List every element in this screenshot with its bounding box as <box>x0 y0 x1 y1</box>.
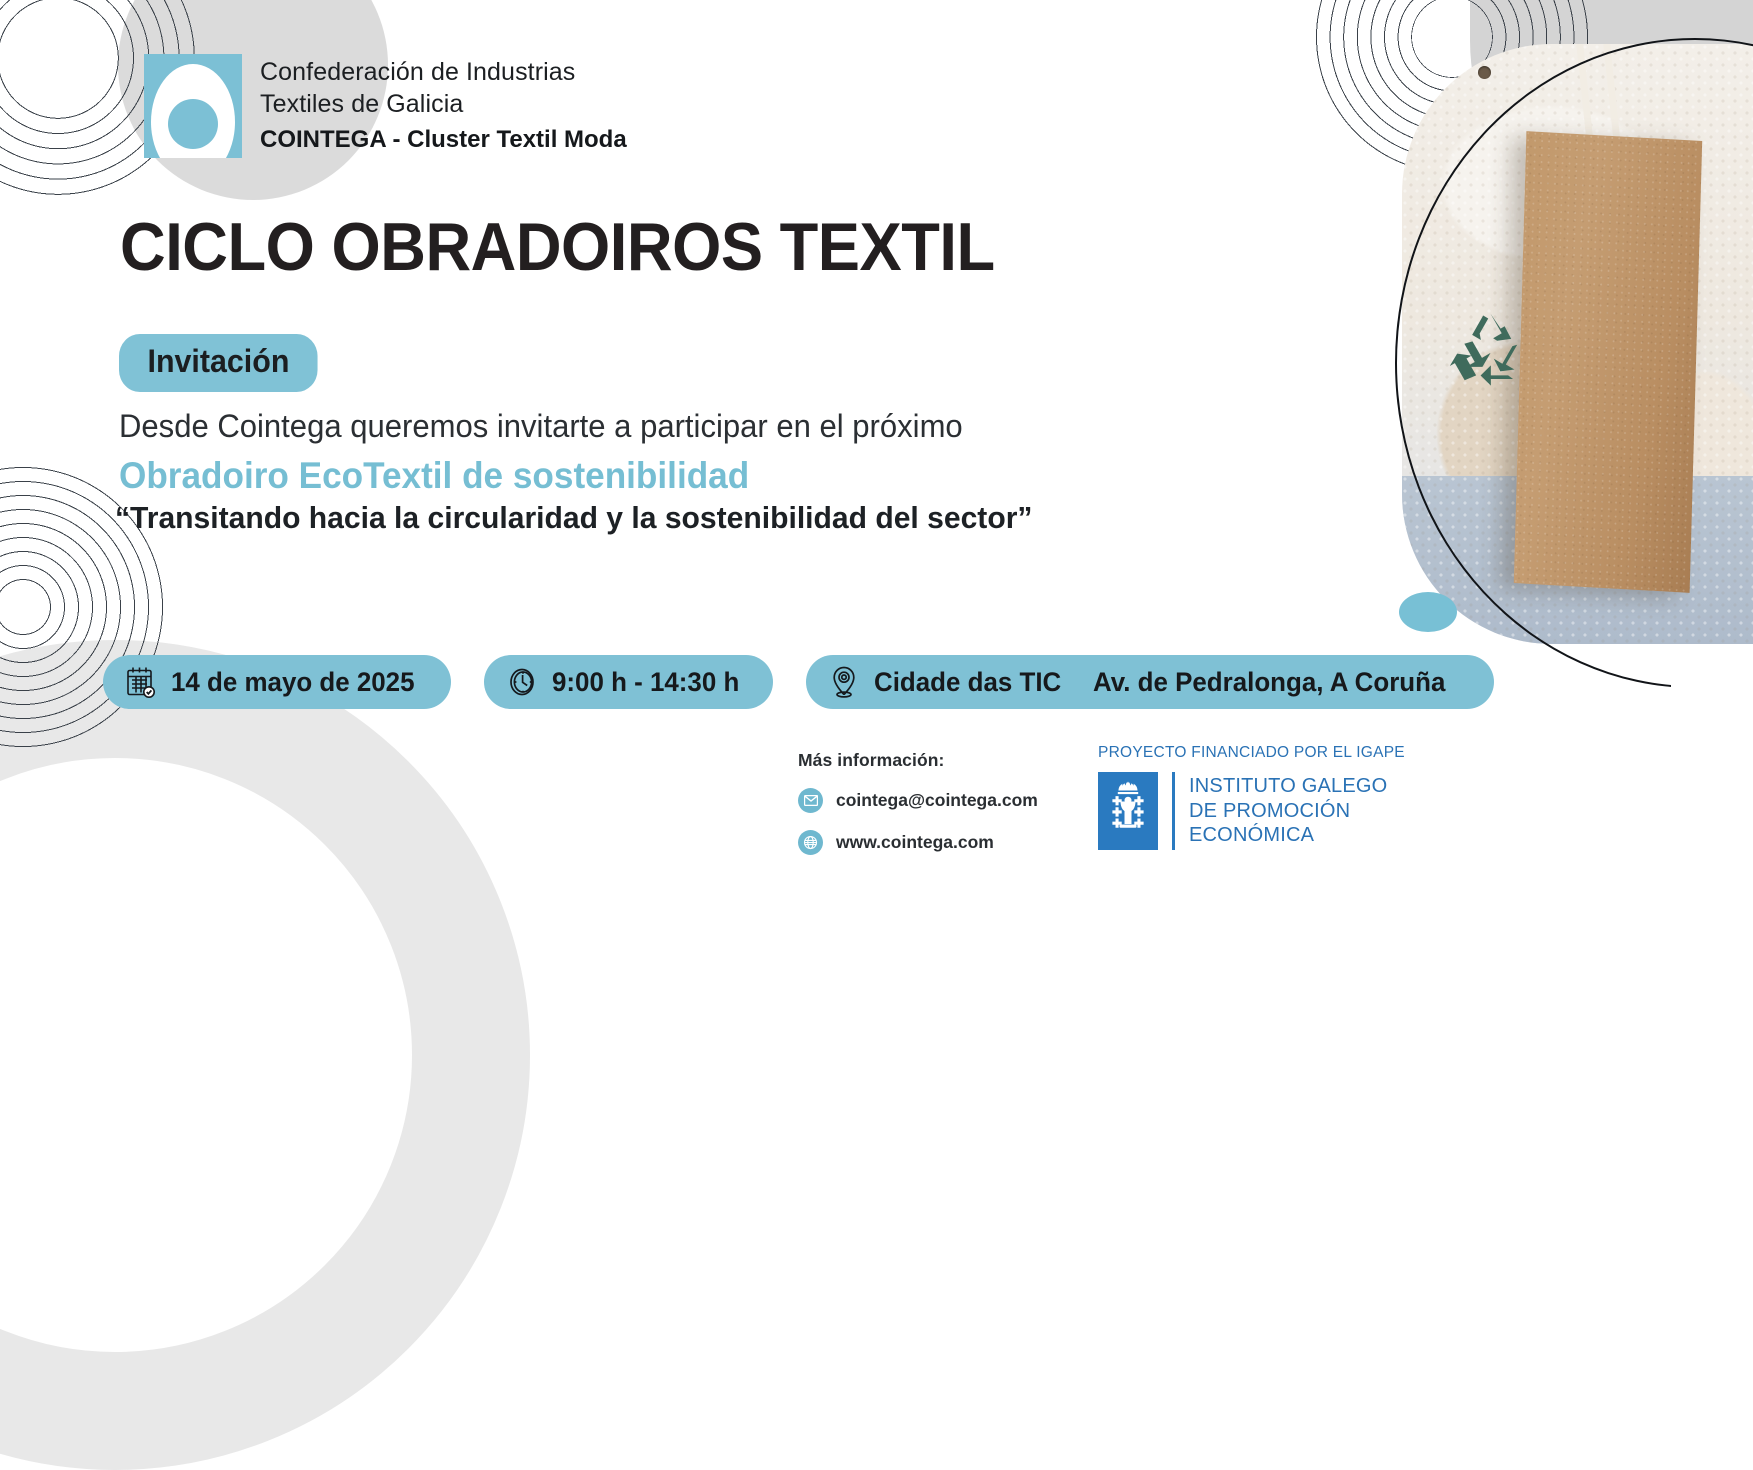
workshop-subtitle-quote: “Transitando hacia la circularidad y la … <box>115 500 1032 536</box>
workshop-name: Obradoiro EcoTextil de sostenibilidad <box>119 455 749 497</box>
hero-photo <box>1402 44 1753 644</box>
clock-icon <box>506 665 538 699</box>
contact-block: Más información: cointega@cointega.com w… <box>798 750 1038 855</box>
photo-kraft-tag <box>1514 131 1702 593</box>
recycling-symbol-icon <box>1440 302 1542 400</box>
event-address-text: Av. de Pedralonga, A Coruña <box>1093 667 1445 698</box>
lead-paragraph: Desde Cointega queremos invitarte a part… <box>119 408 963 445</box>
event-date-pill: 14 de mayo de 2025 <box>103 655 451 709</box>
xunta-de-galicia-coat-of-arms-icon <box>1098 772 1158 850</box>
brand-header: Confederación de Industrias Textiles de … <box>144 54 627 158</box>
contact-email-text: cointega@cointega.com <box>836 790 1038 811</box>
event-details-row: 14 de mayo de 2025 9:00 h - 14:30 h Cida… <box>103 655 1494 709</box>
map-pin-icon <box>828 664 860 700</box>
decor-gray-ring-bottom-left <box>0 640 530 1470</box>
contact-title: Más información: <box>798 750 1038 771</box>
funding-block: PROYECTO FINANCIADO POR EL IGAPE <box>1098 744 1405 850</box>
globe-icon <box>798 830 823 855</box>
photo-tag-hole <box>1478 66 1491 79</box>
event-time-text: 9:00 h - 14:30 h <box>552 667 739 698</box>
page-title: CICLO OBRADOIROS TEXTIL <box>120 208 995 286</box>
event-date-text: 14 de mayo de 2025 <box>171 667 415 698</box>
brand-line-3: COINTEGA - Cluster Textil Moda <box>260 125 627 156</box>
envelope-icon <box>798 788 823 813</box>
igape-name-line-2: DE PROMOCIÓN <box>1189 799 1387 823</box>
igape-name-line-3: ECONÓMICA <box>1189 823 1387 847</box>
contact-email-row[interactable]: cointega@cointega.com <box>798 788 1038 813</box>
event-time-pill: 9:00 h - 14:30 h <box>484 655 773 709</box>
igape-name-line-1: INSTITUTO GALEGO <box>1189 774 1387 798</box>
calendar-check-icon <box>125 665 157 699</box>
cointega-oval-logo-icon <box>144 54 242 158</box>
event-location-pill: Cidade das TIC Av. de Pedralonga, A Coru… <box>806 655 1494 709</box>
brand-line-2: Textiles de Galicia <box>260 88 627 120</box>
igape-logo: INSTITUTO GALEGO DE PROMOCIÓN ECONÓMICA <box>1098 772 1405 850</box>
funding-kicker: PROYECTO FINANCIADO POR EL IGAPE <box>1098 744 1405 762</box>
igape-name: INSTITUTO GALEGO DE PROMOCIÓN ECONÓMICA <box>1189 774 1387 847</box>
contact-web-text: www.cointega.com <box>836 832 994 853</box>
event-venue-text: Cidade das TIC <box>874 667 1061 698</box>
contact-web-row[interactable]: www.cointega.com <box>798 830 1038 855</box>
brand-line-1: Confederación de Industrias <box>260 56 627 88</box>
igape-logo-divider <box>1172 772 1175 850</box>
invitation-badge: Invitación <box>119 334 318 392</box>
